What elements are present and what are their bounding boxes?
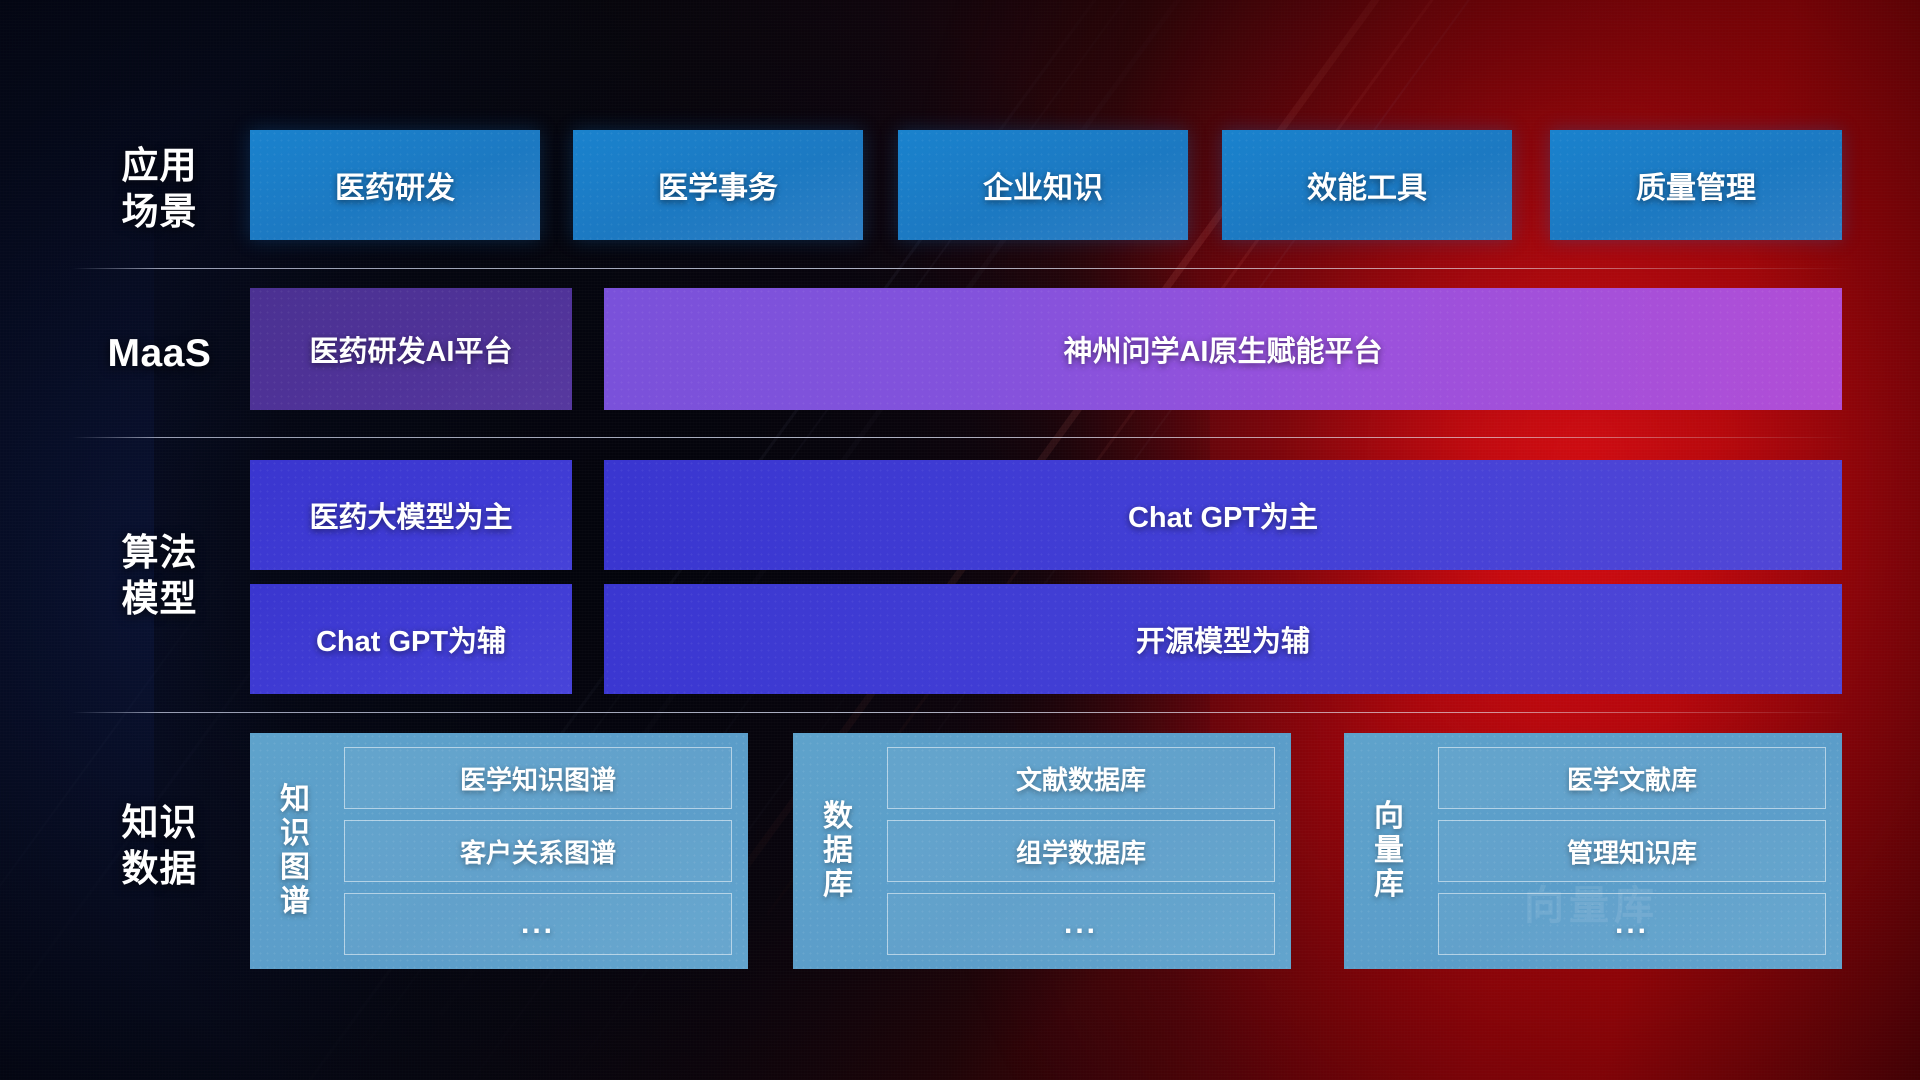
- knowledge-group-knowledge-graph-title: 知识图谱: [264, 747, 326, 955]
- algo-box-pharma-llm-primary-label: 医药大模型为主: [309, 494, 512, 536]
- knowledge-item-label: 组学数据库: [1016, 833, 1146, 870]
- knowledge-group-database-title: 数据库: [807, 747, 869, 955]
- maas-box-drug-rd-ai-platform[interactable]: 医药研发AI平台: [250, 288, 572, 410]
- knowledge-item-more-ellipsis[interactable]: ...: [1438, 893, 1826, 955]
- scene-box-medical-affairs-label: 医学事务: [658, 163, 778, 207]
- algo-box-chatgpt-primary[interactable]: Chat GPT为主: [604, 460, 1842, 570]
- vertical-title-char: 识: [280, 817, 310, 851]
- divider-maas-algorithm: [72, 437, 1850, 438]
- divider-algorithm-knowledge: [72, 712, 1850, 713]
- knowledge-item-label: ...: [521, 907, 555, 941]
- vertical-title-char: 图: [280, 851, 310, 885]
- vertical-title-char: 数: [823, 800, 853, 834]
- knowledge-group-knowledge-graph[interactable]: 知识图谱 医学知识图谱 客户关系图谱 ...: [250, 733, 748, 969]
- knowledge-group-vector-store-title: 向量库: [1358, 747, 1420, 955]
- knowledge-item-customer-relation-graph[interactable]: 客户关系图谱: [344, 820, 732, 882]
- row-label-maas: MaaS: [72, 330, 247, 378]
- knowledge-group-database-items: 文献数据库 组学数据库 ...: [887, 747, 1275, 955]
- knowledge-item-omics-database[interactable]: 组学数据库: [887, 820, 1275, 882]
- row-label-algorithm-models: 算法 模型: [72, 530, 247, 622]
- vertical-title-char: 库: [1374, 868, 1404, 902]
- knowledge-item-more-ellipsis[interactable]: ...: [344, 893, 732, 955]
- knowledge-item-label: ...: [1615, 907, 1649, 941]
- knowledge-item-more-ellipsis[interactable]: ...: [887, 893, 1275, 955]
- knowledge-group-database[interactable]: 数据库 文献数据库 组学数据库 ...: [793, 733, 1291, 969]
- algo-box-opensource-secondary[interactable]: 开源模型为辅: [604, 584, 1842, 694]
- scene-box-enterprise-knowledge-label: 企业知识: [983, 163, 1103, 207]
- architecture-diagram: 应用 场景 医药研发 医学事务 企业知识 效能工具 质量管理 MaaS 医药研发…: [0, 0, 1920, 1080]
- scene-box-medical-affairs[interactable]: 医学事务: [573, 130, 863, 240]
- knowledge-item-medical-knowledge-graph[interactable]: 医学知识图谱: [344, 747, 732, 809]
- knowledge-group-knowledge-graph-items: 医学知识图谱 客户关系图谱 ...: [344, 747, 732, 955]
- knowledge-group-vector-store[interactable]: 向量库 向量库 医学文献库 管理知识库 ...: [1344, 733, 1842, 969]
- vertical-title-char: 谱: [280, 885, 310, 919]
- vertical-title-char: 库: [823, 868, 853, 902]
- scene-box-efficiency-tools-label: 效能工具: [1307, 163, 1427, 207]
- maas-box-shenzhou-wenxue-platform[interactable]: 神州问学AI原生赋能平台: [604, 288, 1842, 410]
- row-label-knowledge-data: 知识 数据: [72, 800, 247, 892]
- algo-box-chatgpt-primary-label: Chat GPT为主: [1128, 494, 1318, 536]
- scene-box-drug-rd[interactable]: 医药研发: [250, 130, 540, 240]
- algo-box-pharma-llm-primary[interactable]: 医药大模型为主: [250, 460, 572, 570]
- vertical-title-char: 知: [280, 783, 310, 817]
- vertical-title-char: 量: [1374, 834, 1404, 868]
- knowledge-item-literature-database[interactable]: 文献数据库: [887, 747, 1275, 809]
- knowledge-item-label: 管理知识库: [1567, 833, 1697, 870]
- row-label-application-scenarios: 应用 场景: [72, 143, 247, 235]
- scene-box-enterprise-knowledge[interactable]: 企业知识: [898, 130, 1188, 240]
- divider-application-maas: [72, 268, 1850, 269]
- scene-box-drug-rd-label: 医药研发: [335, 163, 455, 207]
- scene-box-efficiency-tools[interactable]: 效能工具: [1222, 130, 1512, 240]
- vertical-title-char: 据: [823, 834, 853, 868]
- scene-box-quality-management-label: 质量管理: [1636, 163, 1756, 207]
- algo-box-opensource-secondary-label: 开源模型为辅: [1136, 618, 1310, 660]
- knowledge-item-label: 文献数据库: [1016, 760, 1146, 797]
- knowledge-item-label: 医学文献库: [1567, 760, 1697, 797]
- knowledge-group-vector-store-items: 医学文献库 管理知识库 ...: [1438, 747, 1826, 955]
- algo-box-chatgpt-secondary-label: Chat GPT为辅: [316, 618, 506, 660]
- knowledge-item-management-knowledge-store[interactable]: 管理知识库: [1438, 820, 1826, 882]
- vertical-title-char: 向: [1374, 800, 1404, 834]
- maas-box-drug-rd-ai-platform-label: 医药研发AI平台: [309, 328, 512, 370]
- knowledge-item-label: 客户关系图谱: [460, 833, 616, 870]
- scene-box-quality-management[interactable]: 质量管理: [1550, 130, 1842, 240]
- algo-box-chatgpt-secondary[interactable]: Chat GPT为辅: [250, 584, 572, 694]
- knowledge-item-label: 医学知识图谱: [460, 760, 616, 797]
- knowledge-item-medical-literature-store[interactable]: 医学文献库: [1438, 747, 1826, 809]
- knowledge-item-label: ...: [1064, 907, 1098, 941]
- maas-box-shenzhou-wenxue-platform-label: 神州问学AI原生赋能平台: [1063, 328, 1382, 370]
